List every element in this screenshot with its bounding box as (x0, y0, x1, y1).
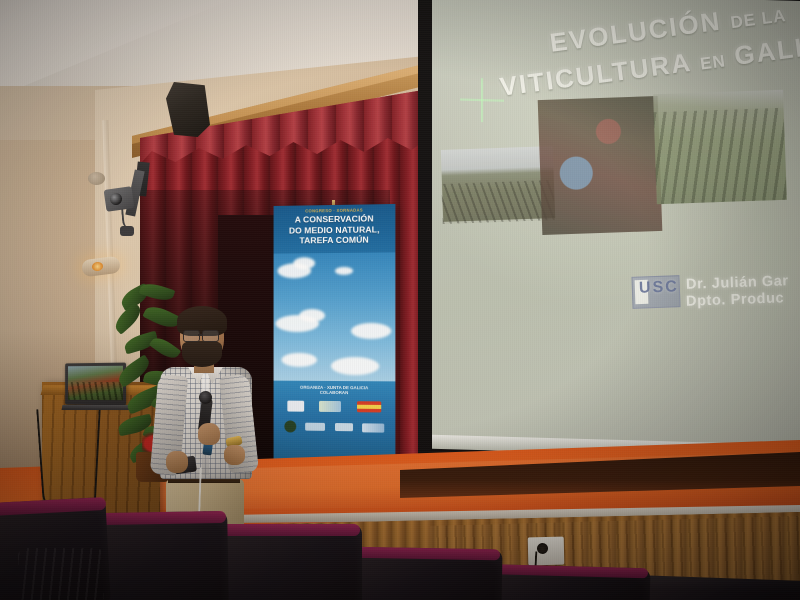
presenter-hand-holding-mic (198, 423, 220, 445)
glasses-right-lens (202, 330, 219, 342)
slide-title-word-dela: DE LA (729, 6, 787, 32)
banner-headline-text: A CONSERVACIÓNDO MEDIO NATURAL,TAREFA CO… (274, 213, 396, 246)
banner-sky-image (274, 252, 396, 381)
camera-lens-icon (110, 193, 122, 205)
presenter-right-hand (224, 445, 245, 465)
loudspeaker-icon (166, 82, 210, 137)
banner-sponsor-row-2 (279, 420, 389, 433)
slide-photo-field-rows (441, 180, 554, 224)
sponsor-logo (284, 420, 296, 432)
banner-organizer-text: ORGANIZA · XUNTA DE GALICIACOLABORAN (274, 385, 396, 397)
camera-mount (120, 226, 134, 236)
slide-photo-grape-harvest (538, 96, 663, 235)
sponsor-logo (320, 401, 342, 412)
sponsor-logo (335, 423, 353, 431)
sponsor-logo (287, 401, 304, 412)
cloud (293, 257, 315, 269)
presenter-beard (182, 341, 222, 367)
sponsor-logo (305, 423, 325, 431)
banner-sponsor-row-1 (279, 401, 389, 413)
projector-crosshair-icon (460, 78, 504, 123)
glasses-left-lens (183, 330, 200, 342)
cloud (351, 323, 391, 339)
slide-credit-department: Dpto. Produc (686, 290, 785, 309)
sponsor-logo (362, 423, 384, 432)
ceiling-fixture (88, 172, 105, 185)
slide-photo-vineyard-rows (653, 108, 786, 204)
cloud (335, 267, 353, 275)
usc-logo-text: USC (639, 278, 679, 297)
slide-title-word-en: EN (699, 51, 727, 73)
seat-back-ribs (18, 548, 104, 600)
leaf (111, 302, 145, 335)
seat-trim (98, 511, 226, 525)
photo-scene: EVOLUCIÓN DE LA VITICULTURA EN GALI USC … (0, 0, 800, 600)
rollup-banner: CONGRESO · XORNADAS A CONSERVACIÓNDO MED… (274, 204, 396, 464)
cloud (299, 309, 325, 322)
glasses-bridge (198, 334, 203, 336)
sponsor-logo (357, 401, 381, 412)
cloud (281, 353, 317, 367)
seat-trim (214, 524, 360, 536)
cloud (331, 357, 379, 375)
